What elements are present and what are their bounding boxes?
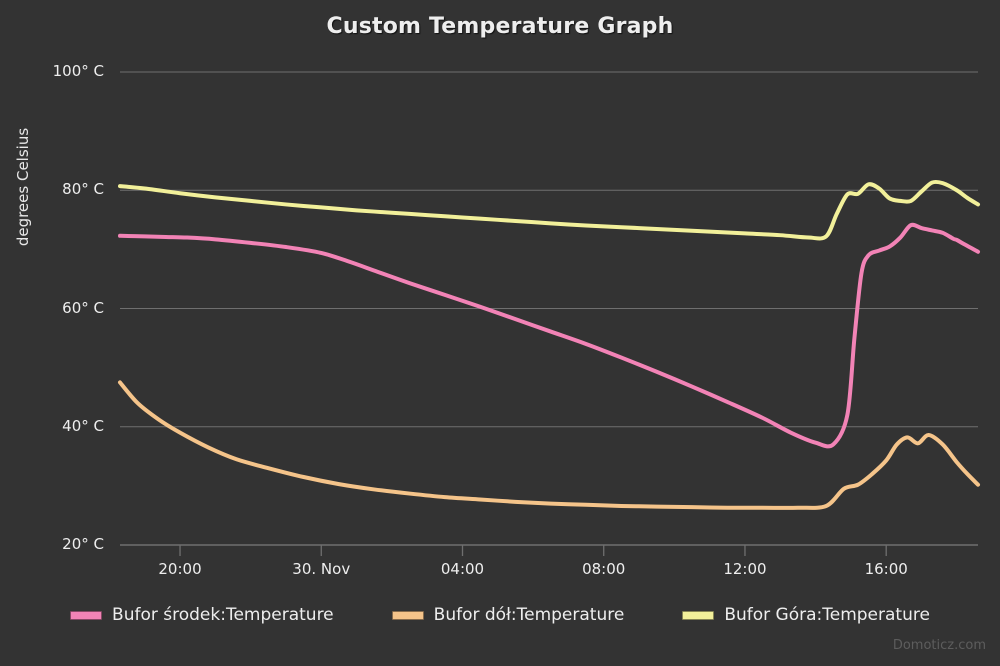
legend-swatch-icon [682,611,714,620]
x-tick-label: 12:00 [690,560,800,578]
series-lines [120,182,978,508]
x-tick-label: 30. Nov [266,560,376,578]
x-axis-ticks [180,545,886,556]
series-line-1 [120,225,978,447]
legend-label: Bufor środek:Temperature [112,605,334,625]
y-tick-label: 100° C [14,62,104,80]
legend-swatch-icon [392,611,424,620]
watermark: Domoticz.com [893,638,986,653]
temperature-chart: Custom Temperature Graph degrees Celsius… [0,0,1000,666]
x-tick-label: 08:00 [549,560,659,578]
legend-swatch-icon [70,611,102,620]
y-tick-label: 20° C [14,535,104,553]
legend-label: Bufor Góra:Temperature [724,605,930,625]
y-tick-label: 60° C [14,299,104,317]
x-tick-label: 04:00 [407,560,517,578]
legend-entry-3[interactable]: Bufor Góra:Temperature [682,605,930,625]
gridlines [120,72,978,545]
x-tick-label: 16:00 [831,560,941,578]
legend-entry-2[interactable]: Bufor dół:Temperature [392,605,625,625]
y-tick-label: 40° C [14,417,104,435]
legend-entry-1[interactable]: Bufor środek:Temperature [70,605,334,625]
x-tick-label: 20:00 [125,560,235,578]
y-tick-label: 80° C [14,180,104,198]
chart-legend: Bufor środek:TemperatureBufor dół:Temper… [0,605,1000,625]
legend-label: Bufor dół:Temperature [434,605,625,625]
